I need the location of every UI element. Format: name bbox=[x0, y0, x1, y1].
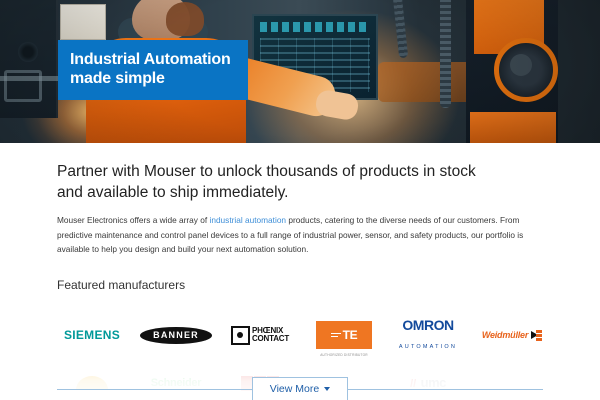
te-logo-subtitle: AUTHORIZED DISTRIBUTOR bbox=[320, 353, 368, 357]
intro-paragraph: Mouser Electronics offers a wide array o… bbox=[57, 213, 549, 257]
hero-caption-box: Industrial Automation made simple bbox=[58, 40, 248, 100]
schneider-logo-text: Schneider bbox=[151, 377, 202, 389]
phoenix-logo: PHŒNIX CONTACT bbox=[231, 326, 289, 345]
logo-siemens[interactable]: SIEMENS bbox=[50, 312, 134, 358]
featured-manufacturers-title: Featured manufacturers bbox=[57, 278, 185, 292]
weidmuller-logo-text: Weidmüller bbox=[482, 330, 528, 340]
hero-caption-line-1: Industrial Automation bbox=[70, 50, 236, 69]
view-more-button[interactable]: View More bbox=[252, 377, 348, 400]
page-root: Industrial Automation made simple Partne… bbox=[0, 0, 600, 400]
banner-logo-text: BANNER bbox=[140, 327, 212, 344]
logo-red-trapezoid[interactable] bbox=[470, 360, 554, 400]
harting-arc-icon bbox=[76, 376, 108, 390]
hero-caption-line-2: made simple bbox=[70, 69, 236, 88]
view-more-label: View More bbox=[270, 383, 319, 395]
te-logo-box: TE AUTHORIZED DISTRIBUTOR bbox=[316, 321, 372, 349]
phoenix-logo-text: PHŒNIX CONTACT bbox=[252, 327, 289, 344]
logo-schneider[interactable]: Schneider bbox=[134, 360, 218, 400]
te-logo-text: TE bbox=[343, 328, 358, 342]
logo-row-1: SIEMENS BANNER PHŒNIX CONTACT bbox=[50, 311, 555, 359]
weidmuller-mark-icon bbox=[531, 330, 542, 341]
logo-omron[interactable]: OMRON AUTOMATION bbox=[386, 312, 470, 358]
hero-banner: Industrial Automation made simple bbox=[0, 0, 600, 143]
intro-text-before-link: Mouser Electronics offers a wide array o… bbox=[57, 215, 209, 225]
te-logo-main: TE bbox=[331, 328, 358, 342]
te-bars-icon bbox=[331, 331, 341, 338]
logo-weidmuller[interactable]: Weidmüller bbox=[470, 312, 554, 358]
logo-te-connectivity[interactable]: TE AUTHORIZED DISTRIBUTOR bbox=[302, 312, 386, 358]
logo-banner[interactable]: BANNER bbox=[134, 312, 218, 358]
umc-logo-text: umc bbox=[421, 375, 446, 390]
main-content: Partner with Mouser to unlock thousands … bbox=[0, 143, 600, 400]
industrial-automation-link[interactable]: industrial automation bbox=[209, 215, 286, 225]
omron-logo-subtitle: AUTOMATION bbox=[399, 344, 457, 350]
phoenix-line-2: CONTACT bbox=[252, 334, 289, 343]
logo-umc[interactable]: // umc bbox=[386, 360, 470, 400]
weidmuller-logo: Weidmüller bbox=[482, 330, 542, 341]
headline-line-1: Partner with Mouser to unlock thousands … bbox=[57, 161, 557, 182]
logo-phoenix-contact[interactable]: PHŒNIX CONTACT bbox=[218, 312, 302, 358]
page-headline: Partner with Mouser to unlock thousands … bbox=[57, 161, 557, 203]
headline-line-2: and available to ship immediately. bbox=[57, 182, 557, 203]
chevron-down-icon bbox=[324, 387, 330, 391]
logo-harting[interactable] bbox=[50, 360, 134, 400]
omron-logo-text: OMRON bbox=[402, 317, 453, 333]
phoenix-mark-icon bbox=[231, 326, 250, 345]
omron-logo: OMRON AUTOMATION bbox=[386, 317, 470, 353]
siemens-logo-text: SIEMENS bbox=[64, 328, 120, 342]
